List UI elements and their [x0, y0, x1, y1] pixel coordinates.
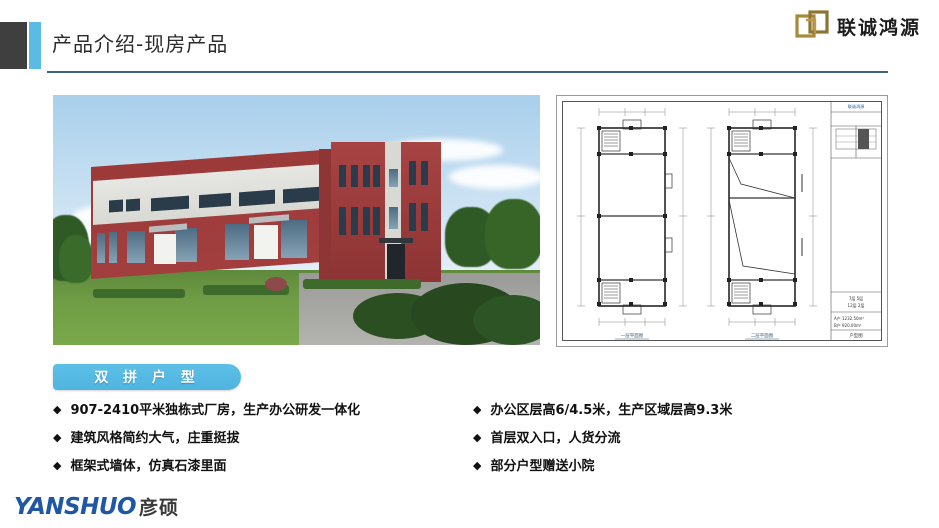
window [151, 196, 189, 212]
hedge-row [303, 279, 421, 289]
diamond-bullet-icon: ◆ [53, 458, 61, 475]
list-item-label: 部分户型赠送小院 [490, 458, 594, 475]
window [126, 198, 140, 211]
list-item: ◆ 建筑风格简约大气，庄重挺拔 [53, 430, 473, 447]
window [339, 207, 346, 235]
header-accent-block [0, 22, 27, 69]
window [239, 190, 275, 207]
list-item-label: 首层双入口，人货分流 [490, 430, 620, 447]
window [373, 207, 380, 235]
page-title: 产品介绍-现房产品 [52, 28, 228, 57]
flower-bed [265, 277, 287, 291]
unit-floor-plan-drawing: 一层平面图 二层平面图 联诚鸿源 7层 5层 12层 2层 A户 1232.50… [556, 95, 888, 347]
footer-logo: YANSHUO 彦硕 [14, 493, 179, 520]
window [109, 199, 123, 212]
plan-caption-left: 一层平面图 [621, 333, 644, 339]
roller-door [154, 234, 176, 264]
list-item-label: 907-2410平米独栋式厂房，生产办公研发一体化 [70, 402, 360, 419]
entrance-canopy [379, 238, 413, 243]
window [339, 165, 346, 187]
diamond-bullet-icon: ◆ [473, 430, 481, 447]
header-accent-bar [29, 22, 41, 69]
window [225, 224, 249, 260]
tree-shape [485, 199, 540, 269]
window [373, 165, 380, 187]
unit-type-banner-label: 双 拼 户 型 [94, 367, 200, 387]
feature-bullets-left: ◆ 907-2410平米独栋式厂房，生产办公研发一体化 ◆ 建筑风格简约大气，庄… [53, 402, 473, 486]
window [283, 187, 321, 204]
list-item-label: 办公区层高6/4.5米，生产区域层高9.3米 [490, 402, 732, 419]
header-divider-rule [47, 71, 888, 73]
window [351, 207, 358, 235]
window [199, 193, 231, 208]
list-item: ◆ 首层双入口，人货分流 [473, 430, 893, 447]
interlocking-squares-icon [794, 8, 830, 44]
window [351, 165, 358, 187]
window [281, 220, 307, 258]
brand-name-label: 联诚鸿源 [837, 13, 921, 40]
hedge-row [93, 289, 185, 298]
window [127, 231, 145, 263]
list-item: ◆ 办公区层高6/4.5米，生产区域层高9.3米 [473, 402, 893, 419]
window [409, 203, 416, 231]
plan-area-2: B户 920.00m² [834, 322, 862, 328]
footer-brand-cn: 彦硕 [139, 493, 179, 520]
window [409, 161, 416, 185]
window [97, 233, 105, 263]
window [389, 169, 398, 187]
diamond-bullet-icon: ◆ [53, 402, 61, 419]
diamond-bullet-icon: ◆ [473, 402, 481, 419]
cloud-shape [449, 165, 540, 189]
brand-logo: 联诚鸿源 [794, 8, 921, 44]
list-item: ◆ 框架式墙体，仿真石漆里面 [53, 458, 473, 475]
footer-brand-en: YANSHUO [14, 494, 136, 520]
plan-area-1: A户 1232.50m² [834, 315, 864, 321]
window [363, 207, 370, 235]
diamond-bullet-icon: ◆ [473, 458, 481, 475]
feature-bullets-right: ◆ 办公区层高6/4.5米，生产区域层高9.3米 ◆ 首层双入口，人货分流 ◆ … [473, 402, 893, 486]
window [389, 207, 398, 229]
window [421, 203, 428, 231]
main-entrance-door [387, 244, 405, 282]
roller-door [254, 225, 278, 259]
plan-note-2: 12层 2层 [848, 302, 865, 308]
floor-plan-linework: 一层平面图 二层平面图 联诚鸿源 7层 5层 12层 2层 A户 1232.50… [557, 96, 887, 346]
window [175, 228, 197, 262]
window [421, 161, 428, 185]
list-item-label: 建筑风格简约大气，庄重挺拔 [70, 430, 239, 447]
window [109, 232, 117, 263]
unit-type-banner: 双 拼 户 型 [53, 364, 241, 390]
feature-bullets: ◆ 907-2410平米独栋式厂房，生产办公研发一体化 ◆ 建筑风格简约大气，庄… [53, 402, 893, 486]
window [363, 165, 370, 187]
plan-caption: 户型图 [849, 332, 863, 339]
list-item-label: 框架式墙体，仿真石漆里面 [70, 458, 226, 475]
plan-note-1: 7层 5层 [849, 295, 863, 301]
list-item: ◆ 907-2410平米独栋式厂房，生产办公研发一体化 [53, 402, 473, 419]
plan-titleblock-logo: 联诚鸿源 [848, 103, 866, 110]
list-item: ◆ 部分户型赠送小院 [473, 458, 893, 475]
building-exterior-render [53, 95, 540, 345]
plan-caption-right: 二层平面图 [751, 333, 774, 339]
diamond-bullet-icon: ◆ [53, 430, 61, 447]
tree-shape [59, 235, 93, 283]
